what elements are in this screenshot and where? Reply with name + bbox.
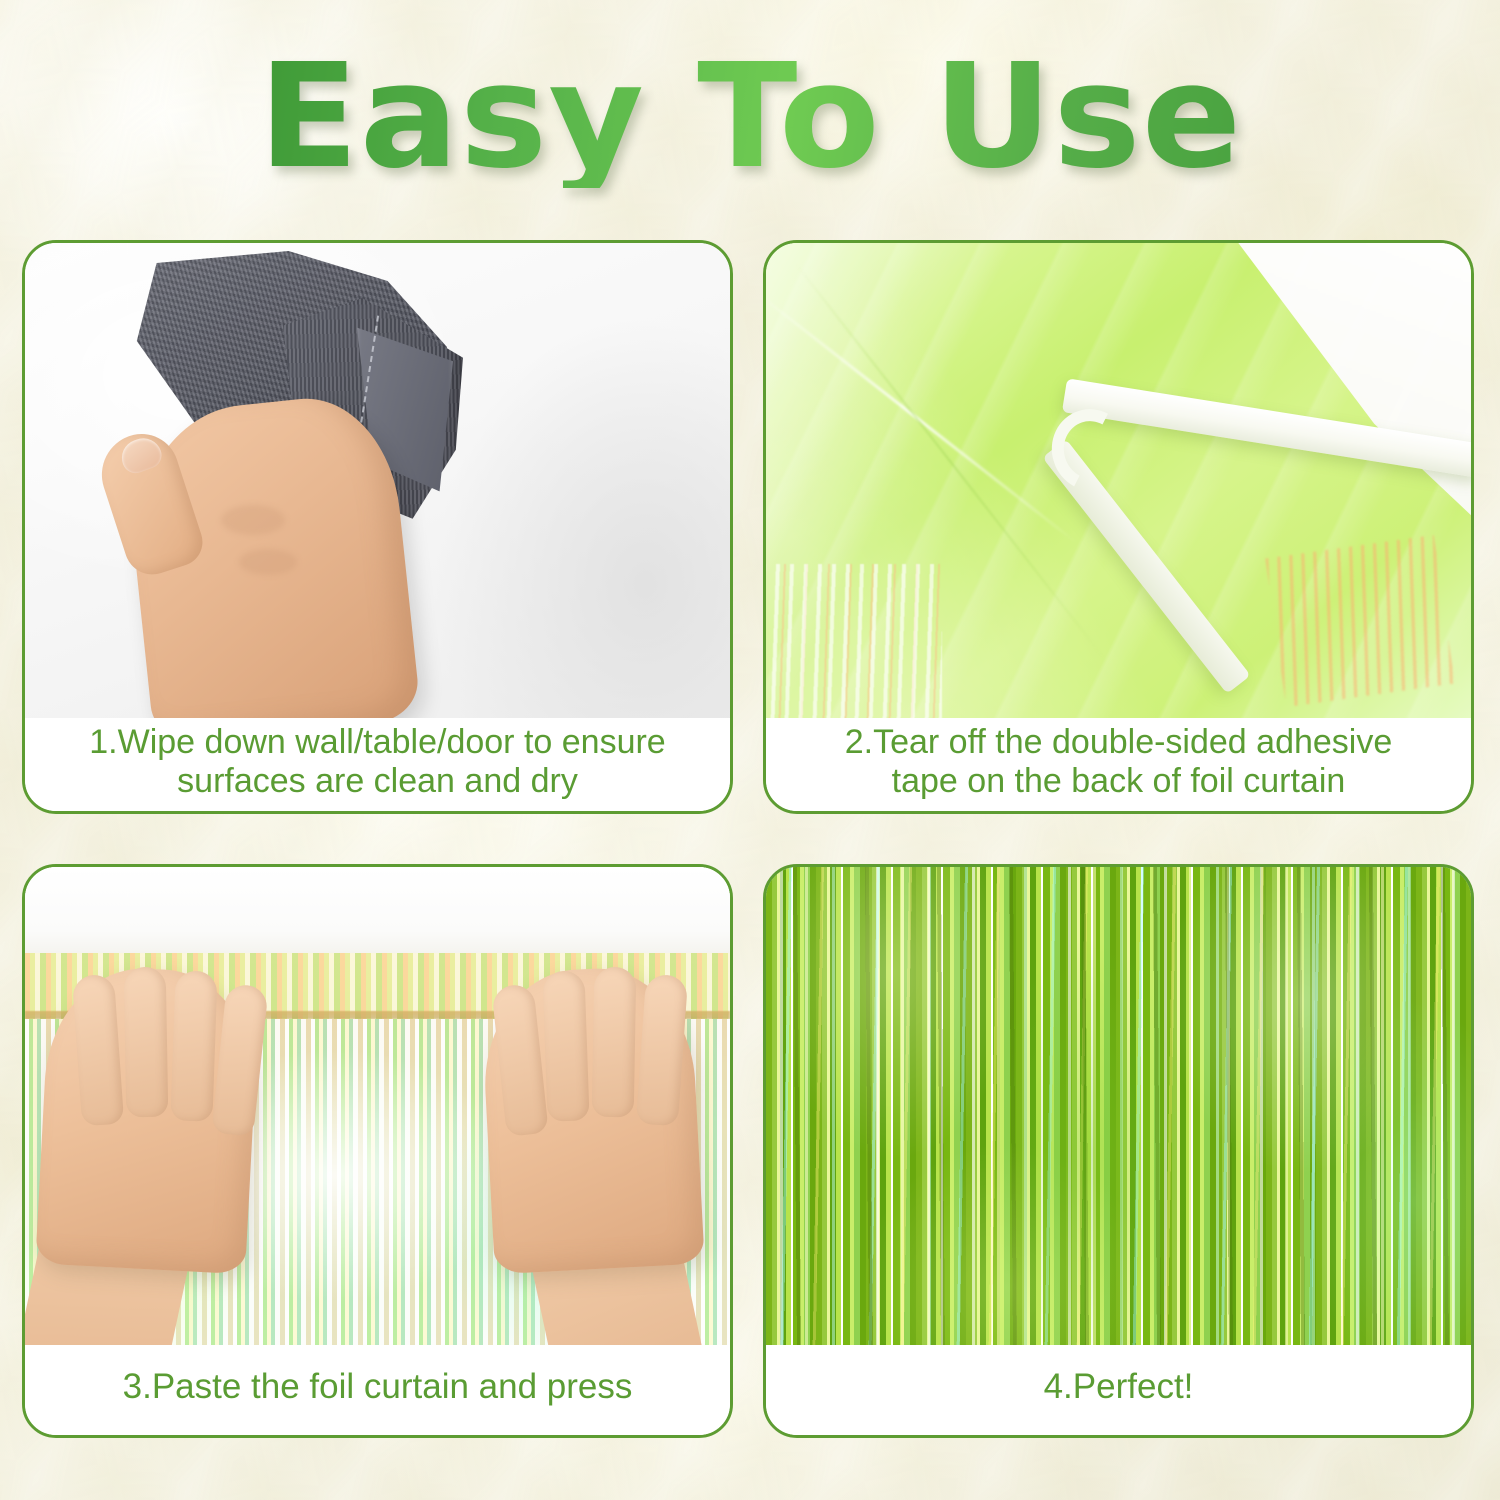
finger (124, 967, 169, 1118)
step-card-1: 1.Wipe down wall/table/door to ensure su… (22, 240, 733, 814)
step-1-caption: 1.Wipe down wall/table/door to ensure su… (25, 718, 730, 811)
foil-fringe-edge (766, 564, 942, 718)
step-4-caption: 4.Perfect! (766, 1345, 1471, 1435)
step-1-photo (25, 243, 730, 718)
step-1-caption-line-1: 1.Wipe down wall/table/door to ensure (89, 723, 665, 761)
wall-surface (25, 867, 730, 959)
step-card-3: 3.Paste the foil curtain and press (22, 864, 733, 1438)
knuckle-crease (239, 549, 297, 575)
step-3-caption: 3.Paste the foil curtain and press (25, 1345, 730, 1435)
knuckle-crease (221, 505, 285, 535)
step-2-photo (766, 243, 1471, 718)
step-card-4: 4.Perfect! (763, 864, 1474, 1438)
steps-grid: 1.Wipe down wall/table/door to ensure su… (22, 240, 1474, 1438)
page-title: Easy To Use (258, 44, 1242, 188)
step-2-caption: 2.Tear off the double-sided adhesive tap… (766, 718, 1471, 811)
foil-light-blotches (766, 867, 1471, 1345)
step-2-caption-line-2: tape on the back of foil curtain (892, 762, 1346, 800)
step-3-caption-line-1: 3.Paste the foil curtain and press (123, 1367, 633, 1407)
page-title-area: Easy To Use (0, 28, 1500, 203)
finger (542, 970, 589, 1121)
step-4-photo (766, 867, 1471, 1345)
foil-iridescent-edge (1265, 535, 1454, 707)
step-4-caption-line-1: 4.Perfect! (1044, 1367, 1194, 1407)
step-2-caption-line-1: 2.Tear off the double-sided adhesive (845, 723, 1393, 761)
step-3-photo (25, 867, 730, 1345)
finger (592, 967, 637, 1118)
step-1-caption-line-2: surfaces are clean and dry (177, 762, 578, 800)
finger (170, 970, 217, 1121)
step-card-2: 2.Tear off the double-sided adhesive tap… (763, 240, 1474, 814)
